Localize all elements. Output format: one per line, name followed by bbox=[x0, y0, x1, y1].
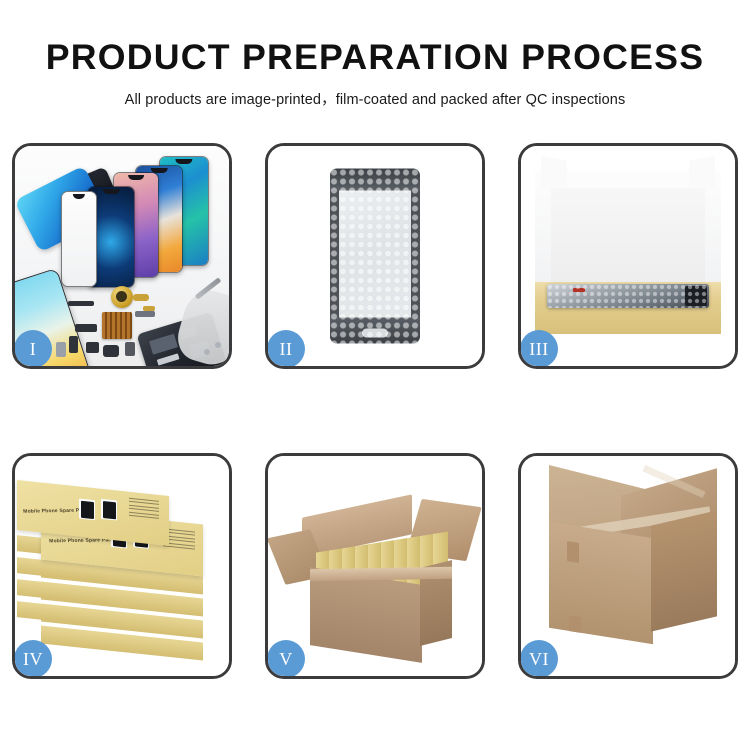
flex-cable-icon bbox=[68, 301, 94, 306]
vibration-motor-icon bbox=[111, 286, 133, 308]
page-title: PRODUCT PREPARATION PROCESS bbox=[0, 40, 750, 75]
process-step-panel-1: I bbox=[12, 143, 232, 369]
carton-rim bbox=[310, 567, 452, 581]
battery-connector-icon bbox=[125, 342, 135, 356]
antenna-part-icon bbox=[69, 336, 78, 353]
screw-icon-2 bbox=[204, 349, 210, 355]
foam-liner-icon bbox=[535, 170, 721, 288]
button-flex-icon bbox=[133, 294, 149, 301]
camera-flex-icon bbox=[75, 324, 97, 332]
retail-box-top: Mobile Phone Spare Parts bbox=[17, 480, 169, 546]
page-subtitle: All products are image-printed，film-coat… bbox=[0, 88, 750, 109]
kraft-inner-box-icon bbox=[535, 282, 721, 334]
step-2-image bbox=[268, 146, 482, 366]
header: PRODUCT PREPARATION PROCESS All products… bbox=[0, 0, 750, 109]
phone-device-1 bbox=[61, 191, 97, 287]
camera-module-icon bbox=[103, 345, 119, 357]
step-1-image bbox=[15, 146, 229, 366]
sim-tray-icon bbox=[56, 342, 66, 357]
step-badge-5: V bbox=[267, 640, 305, 678]
process-step-panel-6: VI bbox=[518, 453, 738, 679]
step-badge-3: III bbox=[520, 330, 558, 368]
process-step-panel-5: V bbox=[265, 453, 485, 679]
wrapped-product-icon bbox=[547, 284, 709, 308]
process-step-grid: I II bbox=[12, 143, 738, 679]
step-badge-2: II bbox=[267, 330, 305, 368]
ribbon-cable-icon bbox=[135, 311, 155, 317]
process-step-panel-2: II bbox=[265, 143, 485, 369]
sealed-carton-side bbox=[651, 510, 717, 631]
step-badge-4: IV bbox=[14, 640, 52, 678]
step-6-image bbox=[521, 456, 735, 676]
carton-tab-bottom bbox=[569, 615, 581, 633]
carton-tab-top bbox=[567, 541, 579, 563]
product-preparation-infographic: PRODUCT PREPARATION PROCESS All products… bbox=[0, 0, 750, 750]
sealed-carton-front bbox=[549, 522, 653, 644]
carton-front-face bbox=[310, 567, 422, 663]
bubble-wrapped-screen-icon bbox=[330, 169, 420, 344]
step-badge-6: VI bbox=[520, 640, 558, 678]
step-3-image bbox=[521, 146, 735, 366]
step-4-image: Mobile Phone Spare Parts Mobile Phone Sp… bbox=[15, 456, 229, 676]
process-step-panel-3: III bbox=[518, 143, 738, 369]
ic-chip-icon bbox=[102, 312, 132, 339]
step-5-image bbox=[268, 456, 482, 676]
step-badge-1: I bbox=[14, 330, 52, 368]
speaker-icon bbox=[86, 342, 99, 353]
screw-icon bbox=[215, 342, 221, 348]
process-step-panel-4: Mobile Phone Spare Parts Mobile Phone Sp… bbox=[12, 453, 232, 679]
